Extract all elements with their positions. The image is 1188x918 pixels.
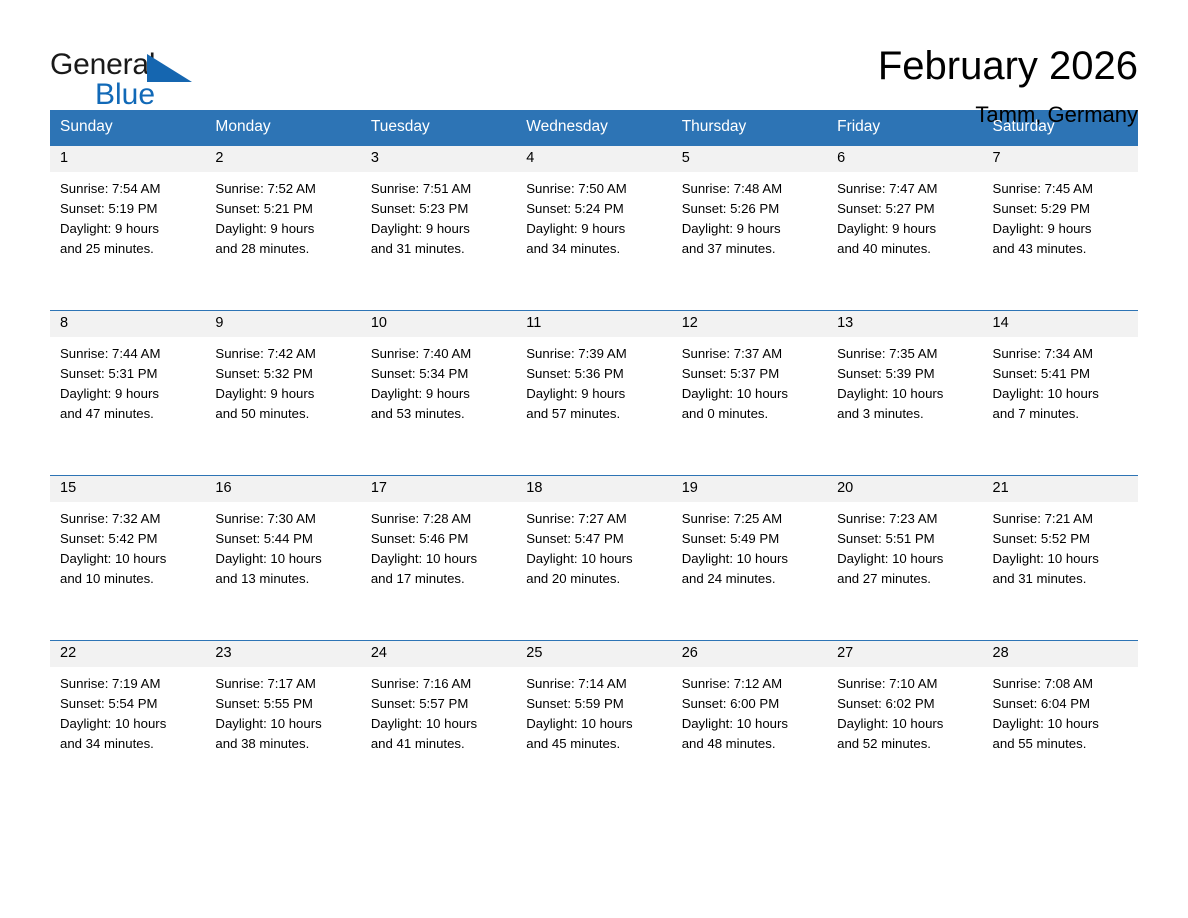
daylight-text-line2: and 45 minutes. [526, 734, 661, 754]
day-number: 20 [827, 476, 982, 502]
daylight-text-line1: Daylight: 10 hours [837, 384, 972, 404]
day-number: 27 [827, 641, 982, 667]
day-number: 26 [672, 641, 827, 667]
calendar-day-cell[interactable]: 3Sunrise: 7:51 AMSunset: 5:23 PMDaylight… [361, 145, 516, 310]
daylight-text-line2: and 7 minutes. [993, 404, 1128, 424]
day-number: 7 [983, 146, 1138, 172]
day-number: 25 [516, 641, 671, 667]
daylight-text-line2: and 40 minutes. [837, 239, 972, 259]
sunrise-text: Sunrise: 7:40 AM [371, 344, 506, 364]
sunset-text: Sunset: 5:44 PM [215, 529, 350, 549]
sunrise-text: Sunrise: 7:08 AM [993, 674, 1128, 694]
daylight-text-line1: Daylight: 10 hours [60, 714, 195, 734]
sunrise-text: Sunrise: 7:32 AM [60, 509, 195, 529]
daylight-text-line1: Daylight: 9 hours [371, 384, 506, 404]
sunset-text: Sunset: 5:49 PM [682, 529, 817, 549]
day-details: Sunrise: 7:48 AMSunset: 5:26 PMDaylight:… [672, 172, 827, 260]
day-number: 1 [50, 146, 205, 172]
day-details: Sunrise: 7:16 AMSunset: 5:57 PMDaylight:… [361, 667, 516, 755]
daylight-text-line1: Daylight: 9 hours [526, 384, 661, 404]
sunset-text: Sunset: 5:36 PM [526, 364, 661, 384]
daylight-text-line1: Daylight: 10 hours [371, 549, 506, 569]
generalblue-logo: General Blue [50, 46, 210, 116]
daylight-text-line1: Daylight: 10 hours [60, 549, 195, 569]
sunrise-text: Sunrise: 7:10 AM [837, 674, 972, 694]
daylight-text-line1: Daylight: 9 hours [215, 384, 350, 404]
sunrise-text: Sunrise: 7:39 AM [526, 344, 661, 364]
daylight-text-line1: Daylight: 10 hours [682, 714, 817, 734]
daylight-text-line1: Daylight: 9 hours [993, 219, 1128, 239]
daylight-text-line2: and 3 minutes. [837, 404, 972, 424]
daylight-text-line2: and 24 minutes. [682, 569, 817, 589]
sunset-text: Sunset: 5:37 PM [682, 364, 817, 384]
day-number: 9 [205, 311, 360, 337]
daylight-text-line2: and 47 minutes. [60, 404, 195, 424]
day-number: 21 [983, 476, 1138, 502]
day-number: 28 [983, 641, 1138, 667]
calendar-day-cell[interactable]: 10Sunrise: 7:40 AMSunset: 5:34 PMDayligh… [361, 310, 516, 475]
daylight-text-line1: Daylight: 10 hours [526, 714, 661, 734]
sunrise-text: Sunrise: 7:34 AM [993, 344, 1128, 364]
day-details: Sunrise: 7:50 AMSunset: 5:24 PMDaylight:… [516, 172, 671, 260]
daylight-text-line2: and 34 minutes. [60, 734, 195, 754]
calendar-week-row: 8Sunrise: 7:44 AMSunset: 5:31 PMDaylight… [50, 310, 1138, 475]
sunrise-text: Sunrise: 7:42 AM [215, 344, 350, 364]
day-number: 11 [516, 311, 671, 337]
day-number: 17 [361, 476, 516, 502]
logo-text-general: General [50, 50, 155, 80]
sunset-text: Sunset: 5:29 PM [993, 199, 1128, 219]
daylight-text-line1: Daylight: 9 hours [60, 219, 195, 239]
day-details: Sunrise: 7:34 AMSunset: 5:41 PMDaylight:… [983, 337, 1138, 425]
sunset-text: Sunset: 5:41 PM [993, 364, 1128, 384]
day-details: Sunrise: 7:37 AMSunset: 5:37 PMDaylight:… [672, 337, 827, 425]
daylight-text-line1: Daylight: 10 hours [837, 549, 972, 569]
calendar-body: 1Sunrise: 7:54 AMSunset: 5:19 PMDaylight… [50, 145, 1138, 805]
daylight-text-line2: and 20 minutes. [526, 569, 661, 589]
calendar-day-cell[interactable]: 15Sunrise: 7:32 AMSunset: 5:42 PMDayligh… [50, 475, 205, 640]
sunset-text: Sunset: 5:24 PM [526, 199, 661, 219]
sunset-text: Sunset: 5:54 PM [60, 694, 195, 714]
weekday-header-monday: Monday [205, 110, 360, 145]
day-details: Sunrise: 7:14 AMSunset: 5:59 PMDaylight:… [516, 667, 671, 755]
day-details: Sunrise: 7:45 AMSunset: 5:29 PMDaylight:… [983, 172, 1138, 260]
daylight-text-line1: Daylight: 9 hours [837, 219, 972, 239]
day-details: Sunrise: 7:08 AMSunset: 6:04 PMDaylight:… [983, 667, 1138, 755]
daylight-text-line1: Daylight: 10 hours [837, 714, 972, 734]
calendar-day-cell[interactable]: 9Sunrise: 7:42 AMSunset: 5:32 PMDaylight… [205, 310, 360, 475]
daylight-text-line2: and 38 minutes. [215, 734, 350, 754]
day-details: Sunrise: 7:21 AMSunset: 5:52 PMDaylight:… [983, 502, 1138, 590]
sunset-text: Sunset: 5:34 PM [371, 364, 506, 384]
sunset-text: Sunset: 5:21 PM [215, 199, 350, 219]
day-number: 16 [205, 476, 360, 502]
day-number: 4 [516, 146, 671, 172]
sunset-text: Sunset: 5:52 PM [993, 529, 1128, 549]
sunset-text: Sunset: 5:27 PM [837, 199, 972, 219]
sunset-text: Sunset: 5:26 PM [682, 199, 817, 219]
calendar-day-cell[interactable]: 11Sunrise: 7:39 AMSunset: 5:36 PMDayligh… [516, 310, 671, 475]
day-details: Sunrise: 7:47 AMSunset: 5:27 PMDaylight:… [827, 172, 982, 260]
daylight-text-line2: and 31 minutes. [993, 569, 1128, 589]
day-number: 13 [827, 311, 982, 337]
sunset-text: Sunset: 5:57 PM [371, 694, 506, 714]
calendar-week-row: 15Sunrise: 7:32 AMSunset: 5:42 PMDayligh… [50, 475, 1138, 640]
calendar-day-cell[interactable]: 13Sunrise: 7:35 AMSunset: 5:39 PMDayligh… [827, 310, 982, 475]
daylight-text-line2: and 10 minutes. [60, 569, 195, 589]
day-number: 6 [827, 146, 982, 172]
day-number: 22 [50, 641, 205, 667]
day-details: Sunrise: 7:32 AMSunset: 5:42 PMDaylight:… [50, 502, 205, 590]
sunrise-text: Sunrise: 7:35 AM [837, 344, 972, 364]
day-number: 14 [983, 311, 1138, 337]
sunrise-text: Sunrise: 7:27 AM [526, 509, 661, 529]
daylight-text-line1: Daylight: 9 hours [371, 219, 506, 239]
daylight-text-line1: Daylight: 10 hours [682, 549, 817, 569]
calendar-day-cell[interactable]: 17Sunrise: 7:28 AMSunset: 5:46 PMDayligh… [361, 475, 516, 640]
day-number: 24 [361, 641, 516, 667]
daylight-text-line1: Daylight: 9 hours [682, 219, 817, 239]
daylight-text-line1: Daylight: 10 hours [371, 714, 506, 734]
calendar-day-cell[interactable]: 4Sunrise: 7:50 AMSunset: 5:24 PMDaylight… [516, 145, 671, 310]
sunset-text: Sunset: 5:23 PM [371, 199, 506, 219]
calendar-day-cell[interactable]: 8Sunrise: 7:44 AMSunset: 5:31 PMDaylight… [50, 310, 205, 475]
daylight-text-line2: and 31 minutes. [371, 239, 506, 259]
day-number: 15 [50, 476, 205, 502]
sunset-text: Sunset: 5:46 PM [371, 529, 506, 549]
day-number: 3 [361, 146, 516, 172]
day-details: Sunrise: 7:28 AMSunset: 5:46 PMDaylight:… [361, 502, 516, 590]
calendar-table: Sunday Monday Tuesday Wednesday Thursday… [50, 110, 1138, 805]
calendar-day-cell[interactable]: 28Sunrise: 7:08 AMSunset: 6:04 PMDayligh… [983, 640, 1138, 805]
day-details: Sunrise: 7:40 AMSunset: 5:34 PMDaylight:… [361, 337, 516, 425]
sunrise-text: Sunrise: 7:54 AM [60, 179, 195, 199]
sunset-text: Sunset: 5:31 PM [60, 364, 195, 384]
day-details: Sunrise: 7:10 AMSunset: 6:02 PMDaylight:… [827, 667, 982, 755]
daylight-text-line2: and 0 minutes. [682, 404, 817, 424]
day-number: 8 [50, 311, 205, 337]
daylight-text-line2: and 13 minutes. [215, 569, 350, 589]
daylight-text-line2: and 37 minutes. [682, 239, 817, 259]
calendar-week-row: 22Sunrise: 7:19 AMSunset: 5:54 PMDayligh… [50, 640, 1138, 805]
calendar-day-cell[interactable]: 6Sunrise: 7:47 AMSunset: 5:27 PMDaylight… [827, 145, 982, 310]
sunrise-text: Sunrise: 7:17 AM [215, 674, 350, 694]
sunset-text: Sunset: 5:39 PM [837, 364, 972, 384]
sunrise-text: Sunrise: 7:21 AM [993, 509, 1128, 529]
day-number: 23 [205, 641, 360, 667]
sunrise-text: Sunrise: 7:50 AM [526, 179, 661, 199]
calendar-day-cell[interactable]: 24Sunrise: 7:16 AMSunset: 5:57 PMDayligh… [361, 640, 516, 805]
day-details: Sunrise: 7:12 AMSunset: 6:00 PMDaylight:… [672, 667, 827, 755]
sunset-text: Sunset: 6:02 PM [837, 694, 972, 714]
sunrise-text: Sunrise: 7:12 AM [682, 674, 817, 694]
calendar-day-cell[interactable]: 25Sunrise: 7:14 AMSunset: 5:59 PMDayligh… [516, 640, 671, 805]
sunset-text: Sunset: 5:59 PM [526, 694, 661, 714]
sunset-text: Sunset: 5:42 PM [60, 529, 195, 549]
day-number: 19 [672, 476, 827, 502]
calendar-day-cell[interactable]: 16Sunrise: 7:30 AMSunset: 5:44 PMDayligh… [205, 475, 360, 640]
daylight-text-line2: and 27 minutes. [837, 569, 972, 589]
day-details: Sunrise: 7:42 AMSunset: 5:32 PMDaylight:… [205, 337, 360, 425]
sunrise-text: Sunrise: 7:45 AM [993, 179, 1128, 199]
sunset-text: Sunset: 5:32 PM [215, 364, 350, 384]
weekday-header-thursday: Thursday [672, 110, 827, 145]
sunrise-text: Sunrise: 7:48 AM [682, 179, 817, 199]
day-details: Sunrise: 7:30 AMSunset: 5:44 PMDaylight:… [205, 502, 360, 590]
daylight-text-line2: and 28 minutes. [215, 239, 350, 259]
day-details: Sunrise: 7:39 AMSunset: 5:36 PMDaylight:… [516, 337, 671, 425]
daylight-text-line1: Daylight: 10 hours [993, 384, 1128, 404]
daylight-text-line1: Daylight: 10 hours [526, 549, 661, 569]
calendar-week-row: 1Sunrise: 7:54 AMSunset: 5:19 PMDaylight… [50, 145, 1138, 310]
daylight-text-line1: Daylight: 9 hours [215, 219, 350, 239]
day-details: Sunrise: 7:25 AMSunset: 5:49 PMDaylight:… [672, 502, 827, 590]
calendar-day-cell[interactable]: 5Sunrise: 7:48 AMSunset: 5:26 PMDaylight… [672, 145, 827, 310]
daylight-text-line2: and 53 minutes. [371, 404, 506, 424]
day-details: Sunrise: 7:19 AMSunset: 5:54 PMDaylight:… [50, 667, 205, 755]
logo-text-blue: Blue [95, 80, 155, 110]
sunset-text: Sunset: 5:55 PM [215, 694, 350, 714]
daylight-text-line2: and 34 minutes. [526, 239, 661, 259]
calendar-day-cell[interactable]: 26Sunrise: 7:12 AMSunset: 6:00 PMDayligh… [672, 640, 827, 805]
sunrise-text: Sunrise: 7:25 AM [682, 509, 817, 529]
day-number: 12 [672, 311, 827, 337]
daylight-text-line1: Daylight: 10 hours [993, 714, 1128, 734]
sunrise-text: Sunrise: 7:28 AM [371, 509, 506, 529]
calendar-day-cell[interactable]: 23Sunrise: 7:17 AMSunset: 5:55 PMDayligh… [205, 640, 360, 805]
day-number: 5 [672, 146, 827, 172]
day-details: Sunrise: 7:17 AMSunset: 5:55 PMDaylight:… [205, 667, 360, 755]
daylight-text-line1: Daylight: 9 hours [526, 219, 661, 239]
weekday-header-wednesday: Wednesday [516, 110, 671, 145]
daylight-text-line1: Daylight: 10 hours [993, 549, 1128, 569]
sunrise-text: Sunrise: 7:37 AM [682, 344, 817, 364]
day-number: 18 [516, 476, 671, 502]
day-details: Sunrise: 7:54 AMSunset: 5:19 PMDaylight:… [50, 172, 205, 260]
day-number: 10 [361, 311, 516, 337]
day-number: 2 [205, 146, 360, 172]
day-details: Sunrise: 7:51 AMSunset: 5:23 PMDaylight:… [361, 172, 516, 260]
calendar-day-cell[interactable]: 7Sunrise: 7:45 AMSunset: 5:29 PMDaylight… [983, 145, 1138, 310]
sunrise-text: Sunrise: 7:51 AM [371, 179, 506, 199]
calendar-day-cell[interactable]: 12Sunrise: 7:37 AMSunset: 5:37 PMDayligh… [672, 310, 827, 475]
sunset-text: Sunset: 6:00 PM [682, 694, 817, 714]
daylight-text-line1: Daylight: 10 hours [682, 384, 817, 404]
sunset-text: Sunset: 5:51 PM [837, 529, 972, 549]
daylight-text-line2: and 41 minutes. [371, 734, 506, 754]
day-details: Sunrise: 7:23 AMSunset: 5:51 PMDaylight:… [827, 502, 982, 590]
day-details: Sunrise: 7:35 AMSunset: 5:39 PMDaylight:… [827, 337, 982, 425]
day-details: Sunrise: 7:52 AMSunset: 5:21 PMDaylight:… [205, 172, 360, 260]
sunrise-text: Sunrise: 7:23 AM [837, 509, 972, 529]
sunrise-text: Sunrise: 7:30 AM [215, 509, 350, 529]
calendar-day-cell[interactable]: 22Sunrise: 7:19 AMSunset: 5:54 PMDayligh… [50, 640, 205, 805]
daylight-text-line2: and 50 minutes. [215, 404, 350, 424]
daylight-text-line2: and 48 minutes. [682, 734, 817, 754]
calendar-day-cell[interactable]: 27Sunrise: 7:10 AMSunset: 6:02 PMDayligh… [827, 640, 982, 805]
calendar-day-cell[interactable]: 19Sunrise: 7:25 AMSunset: 5:49 PMDayligh… [672, 475, 827, 640]
sunset-text: Sunset: 6:04 PM [993, 694, 1128, 714]
daylight-text-line2: and 25 minutes. [60, 239, 195, 259]
daylight-text-line2: and 55 minutes. [993, 734, 1128, 754]
day-details: Sunrise: 7:44 AMSunset: 5:31 PMDaylight:… [50, 337, 205, 425]
sunset-text: Sunset: 5:47 PM [526, 529, 661, 549]
calendar-day-cell[interactable]: 18Sunrise: 7:27 AMSunset: 5:47 PMDayligh… [516, 475, 671, 640]
sunrise-text: Sunrise: 7:16 AM [371, 674, 506, 694]
calendar-day-cell[interactable]: 20Sunrise: 7:23 AMSunset: 5:51 PMDayligh… [827, 475, 982, 640]
sunset-text: Sunset: 5:19 PM [60, 199, 195, 219]
weekday-header-tuesday: Tuesday [361, 110, 516, 145]
daylight-text-line2: and 17 minutes. [371, 569, 506, 589]
day-details: Sunrise: 7:27 AMSunset: 5:47 PMDaylight:… [516, 502, 671, 590]
calendar-day-cell[interactable]: 14Sunrise: 7:34 AMSunset: 5:41 PMDayligh… [983, 310, 1138, 475]
daylight-text-line1: Daylight: 10 hours [215, 549, 350, 569]
sunrise-text: Sunrise: 7:14 AM [526, 674, 661, 694]
daylight-text-line2: and 52 minutes. [837, 734, 972, 754]
page-title: February 2026 [878, 46, 1138, 86]
daylight-text-line2: and 43 minutes. [993, 239, 1128, 259]
sunrise-text: Sunrise: 7:52 AM [215, 179, 350, 199]
calendar-page: General Blue February 2026 Tamm, Germany… [0, 0, 1188, 918]
daylight-text-line1: Daylight: 10 hours [215, 714, 350, 734]
sunrise-text: Sunrise: 7:19 AM [60, 674, 195, 694]
calendar-day-cell[interactable]: 21Sunrise: 7:21 AMSunset: 5:52 PMDayligh… [983, 475, 1138, 640]
daylight-text-line2: and 57 minutes. [526, 404, 661, 424]
sunrise-text: Sunrise: 7:44 AM [60, 344, 195, 364]
page-header: General Blue February 2026 Tamm, Germany [50, 0, 1138, 102]
calendar-day-cell[interactable]: 2Sunrise: 7:52 AMSunset: 5:21 PMDaylight… [205, 145, 360, 310]
daylight-text-line1: Daylight: 9 hours [60, 384, 195, 404]
sunrise-text: Sunrise: 7:47 AM [837, 179, 972, 199]
calendar-day-cell[interactable]: 1Sunrise: 7:54 AMSunset: 5:19 PMDaylight… [50, 145, 205, 310]
title-block: February 2026 Tamm, Germany [878, 46, 1138, 126]
